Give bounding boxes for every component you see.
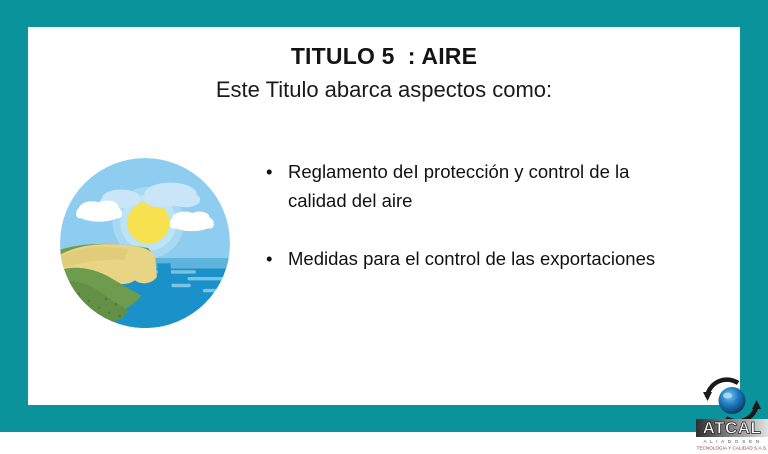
list-item-text: Medidas para el control de las exportaci… bbox=[288, 244, 680, 273]
coastal-landscape-icon bbox=[60, 158, 230, 328]
atcal-logo: ATCAL A L I A D O S E N TECNOLOGIA Y CAL… bbox=[692, 366, 768, 454]
page-title: TITULO 5 : AIRE bbox=[28, 43, 740, 70]
page-subtitle: Este Titulo abarca aspectos como: bbox=[28, 77, 740, 103]
bullet-point-icon: • bbox=[266, 244, 272, 273]
atcal-wordmark: ATCAL bbox=[703, 419, 762, 438]
list-item-text: Reglamento deI protección y control de l… bbox=[288, 157, 680, 215]
sphere-icon bbox=[719, 387, 746, 414]
bullet-point-icon: • bbox=[266, 157, 272, 186]
logo-tagline-line2: TECNOLOGIA Y CALIDAD S.A.S. bbox=[697, 446, 768, 451]
bullet-list: • Reglamento deI protección y control de… bbox=[260, 157, 680, 273]
logo-tagline-line1: A L I A D O S E N bbox=[704, 439, 761, 444]
slide: TITULO 5 : AIRE Este Titulo abarca aspec… bbox=[0, 0, 768, 432]
slide-content-area: TITULO 5 : AIRE Este Titulo abarca aspec… bbox=[28, 27, 740, 405]
list-item: • Medidas para el control de las exporta… bbox=[260, 244, 680, 273]
list-item: • Reglamento deI protección y control de… bbox=[260, 157, 680, 215]
